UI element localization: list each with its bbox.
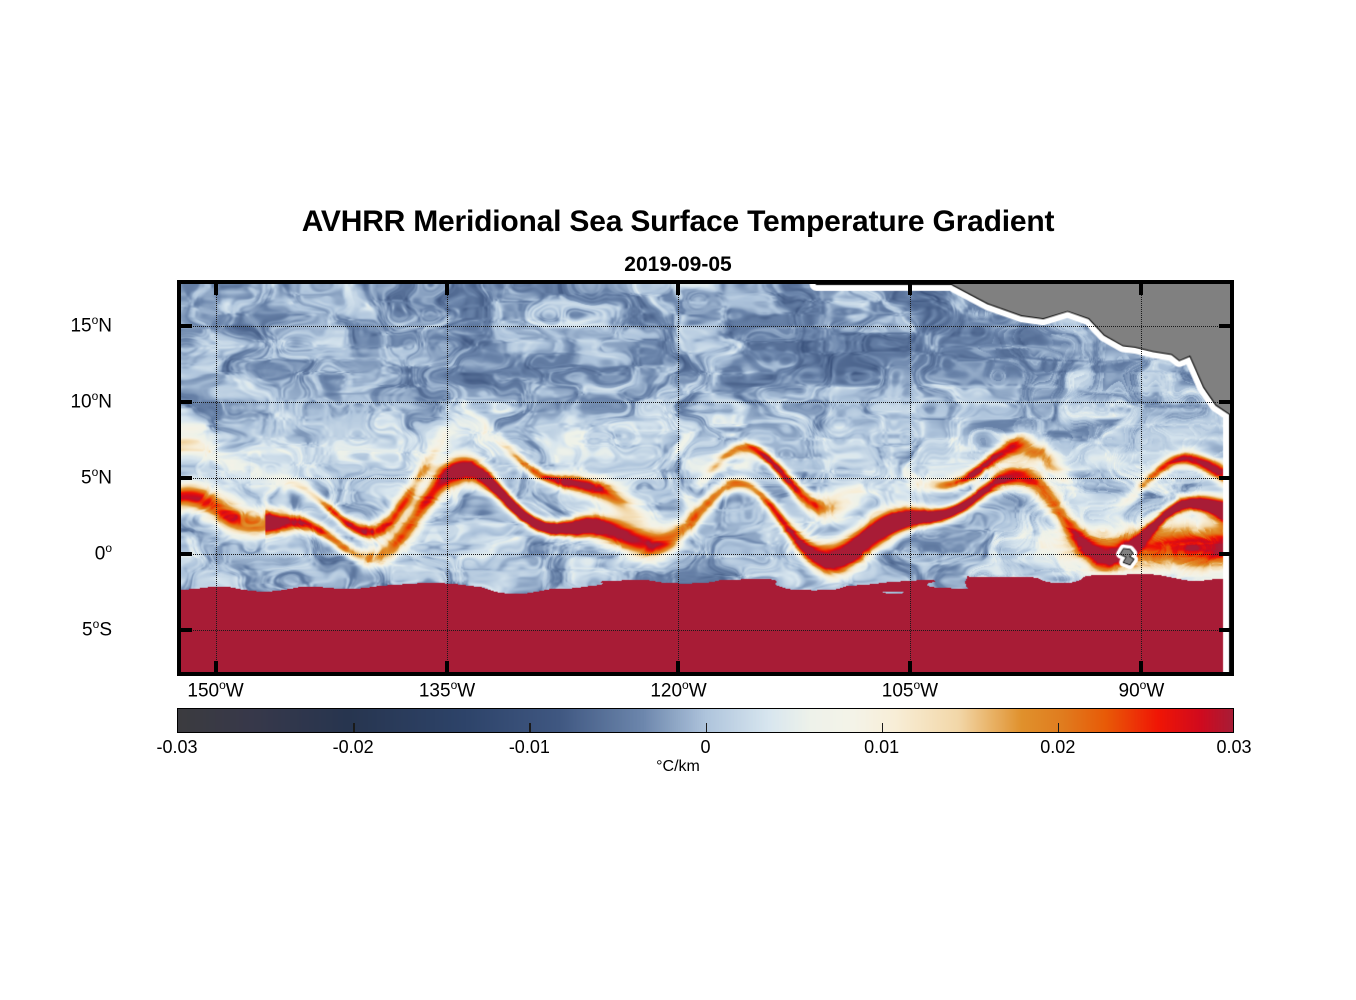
tick-lat-5s bbox=[181, 628, 192, 632]
sst-gradient-heatmap bbox=[181, 284, 1230, 672]
axis-label-lon-105w: 105oW bbox=[840, 678, 980, 702]
tick-lon-135w bbox=[445, 661, 449, 672]
tick-lon-150w bbox=[214, 661, 218, 672]
tick-lon-135w-top bbox=[445, 284, 449, 295]
colorbar-tick-cb-0 bbox=[706, 723, 708, 732]
colorbar-tick-cb-0.01 bbox=[882, 723, 884, 732]
axis-label-lat-5s: 5oS bbox=[0, 617, 112, 641]
colorbar-label-cb-0: 0 bbox=[636, 737, 776, 758]
colorbar-label-cb-0.02: 0.02 bbox=[988, 737, 1128, 758]
axis-label-lat-15n: 15oN bbox=[0, 313, 112, 337]
tick-lon-120w bbox=[676, 661, 680, 672]
colorbar-tick-cb--0.01 bbox=[529, 723, 531, 732]
axis-label-lon-150w: 150oW bbox=[146, 678, 286, 702]
tick-lat-10n-right bbox=[1219, 400, 1230, 404]
tick-lat-5n-right bbox=[1219, 476, 1230, 480]
tick-lon-90w-top bbox=[1139, 284, 1143, 295]
colorbar-label-cb--0.03: -0.03 bbox=[107, 737, 247, 758]
colorbar-units-label: °C/km bbox=[0, 758, 1356, 776]
map-axes bbox=[177, 280, 1234, 676]
axis-label-lat-5n: 5oN bbox=[0, 465, 112, 489]
tick-lon-105w bbox=[908, 661, 912, 672]
tick-lat-15n bbox=[181, 324, 192, 328]
tick-lon-90w bbox=[1139, 661, 1143, 672]
tick-lon-120w-top bbox=[676, 284, 680, 295]
tick-lon-105w-top bbox=[908, 284, 912, 295]
axis-label-lat-0: 0o bbox=[0, 541, 112, 565]
colorbar-label-cb-0.01: 0.01 bbox=[812, 737, 952, 758]
colorbar-units-text: °C/km bbox=[656, 758, 700, 775]
colorbar-label-cb--0.02: -0.02 bbox=[283, 737, 423, 758]
tick-lat-5n bbox=[181, 476, 192, 480]
axis-label-lat-10n: 10oN bbox=[0, 389, 112, 413]
colorbar-tick-cb-0.02 bbox=[1058, 723, 1060, 732]
tick-lon-150w-top bbox=[214, 284, 218, 295]
axis-label-lon-90w: 90oW bbox=[1071, 678, 1211, 702]
tick-lat-10n bbox=[181, 400, 192, 404]
colorbar-label-cb-0.03: 0.03 bbox=[1164, 737, 1304, 758]
tick-lat-15n-right bbox=[1219, 324, 1230, 328]
axis-label-lon-135w: 135oW bbox=[377, 678, 517, 702]
colorbar bbox=[177, 708, 1234, 733]
page-subtitle: 2019-09-05 bbox=[0, 253, 1356, 277]
tick-lat-0-right bbox=[1219, 552, 1230, 556]
colorbar-tick-cb--0.02 bbox=[353, 723, 355, 732]
colorbar-label-cb--0.01: -0.01 bbox=[459, 737, 599, 758]
tick-lat-0 bbox=[181, 552, 192, 556]
page-title: AVHRR Meridional Sea Surface Temperature… bbox=[0, 205, 1356, 239]
figure-root: AVHRR Meridional Sea Surface Temperature… bbox=[0, 0, 1356, 1000]
tick-lat-5s-right bbox=[1219, 628, 1230, 632]
axis-label-lon-120w: 120oW bbox=[608, 678, 748, 702]
